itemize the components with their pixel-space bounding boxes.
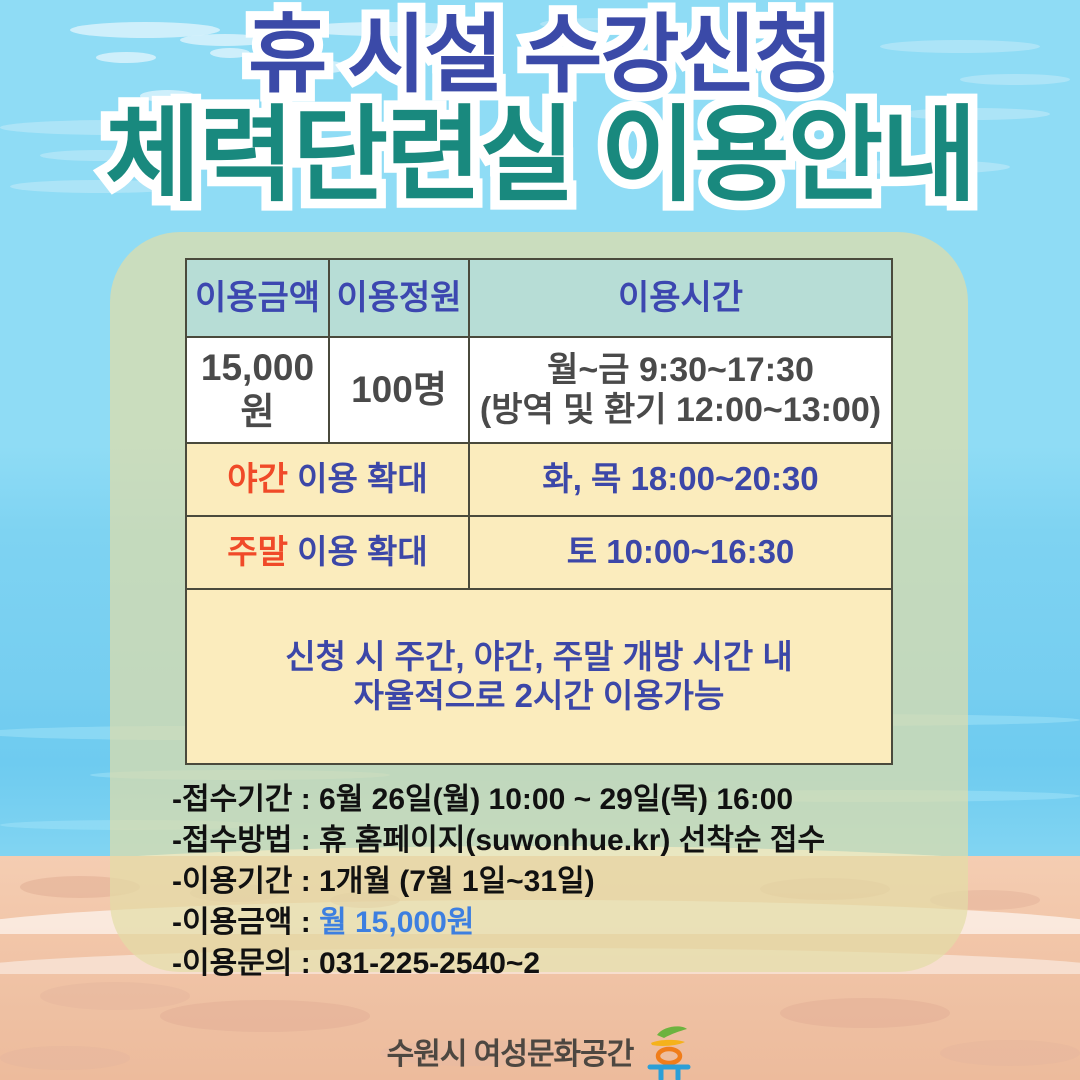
usage-fee-label: -이용금액 :	[172, 906, 319, 939]
cell-price: 15,000 원	[186, 337, 329, 443]
detail-contact: -이용문의 : 031-225-2540~2	[172, 943, 825, 984]
cell-night-hours: 화, 목 18:00~20:30	[469, 443, 892, 516]
page-title-line-1: 휴 시설 수강신청	[0, 12, 1080, 98]
note-line-2: 자율적으로 2시간 이용가능	[187, 677, 891, 716]
page-title-line-2: 체력단련실 이용안내	[0, 104, 1080, 208]
weekend-accent: 주말	[227, 533, 288, 570]
registration-details-list: -접수기간 : 6월 26일(월) 10:00 ~ 29일(목) 16:00 -…	[172, 779, 825, 984]
table-row: 야간 이용 확대 화, 목 18:00~20:30	[186, 443, 892, 516]
table-header-price: 이용금액	[186, 259, 329, 337]
note-line-1: 신청 시 주간, 야간, 주말 개방 시간 내	[187, 638, 891, 677]
night-accent: 야간	[227, 460, 288, 497]
detail-usage-fee: -이용금액 : 월 15,000원	[172, 902, 825, 943]
cell-weekend-hours: 토 10:00~16:30	[469, 516, 892, 589]
pebble-shape	[40, 982, 190, 1010]
table-row: 신청 시 주간, 야간, 주말 개방 시간 내 자율적으로 2시간 이용가능	[186, 589, 892, 764]
cell-night-label: 야간 이용 확대	[186, 443, 469, 516]
price-unit: 원	[187, 390, 328, 434]
cell-usage-note: 신청 시 주간, 야간, 주말 개방 시간 내 자율적으로 2시간 이용가능	[186, 589, 892, 764]
detail-usage-period: -이용기간 : 1개월 (7월 1일~31일)	[172, 861, 825, 902]
night-label-rest: 이용 확대	[288, 460, 428, 497]
table-row: 15,000 원 100명 월~금 9:30~17:30 (방역 및 환기 12…	[186, 337, 892, 443]
hours-weekday: 월~금 9:30~17:30	[470, 350, 891, 390]
footer-branding: 수원시 여성문화공간	[0, 1022, 1080, 1080]
table-row: 주말 이용 확대 토 10:00~16:30	[186, 516, 892, 589]
poster-title-block: 휴 시설 수강신청 체력단련실 이용안내	[0, 0, 1080, 208]
table-header-capacity: 이용정원	[329, 259, 469, 337]
detail-registration-method: -접수방법 : 휴 홈페이지(suwonhue.kr) 선착순 접수	[172, 820, 825, 861]
hours-closure: (방역 및 환기 12:00~13:00)	[470, 390, 891, 430]
organization-name: 수원시 여성문화공간	[387, 1029, 634, 1073]
price-amount: 15,000	[187, 346, 328, 390]
detail-registration-period: -접수기간 : 6월 26일(월) 10:00 ~ 29일(목) 16:00	[172, 779, 825, 820]
usage-info-table: 이용금액 이용정원 이용시간 15,000 원 100명 월~금 9:30~17…	[185, 258, 893, 765]
cell-capacity: 100명	[329, 337, 469, 443]
cell-hours: 월~금 9:30~17:30 (방역 및 환기 12:00~13:00)	[469, 337, 892, 443]
table-header-hours: 이용시간	[469, 259, 892, 337]
weekend-label-rest: 이용 확대	[288, 533, 428, 570]
table-header-row: 이용금액 이용정원 이용시간	[186, 259, 892, 337]
usage-fee-value: 월 15,000원	[319, 906, 474, 939]
cell-weekend-label: 주말 이용 확대	[186, 516, 469, 589]
hue-logo-icon	[647, 1022, 693, 1080]
